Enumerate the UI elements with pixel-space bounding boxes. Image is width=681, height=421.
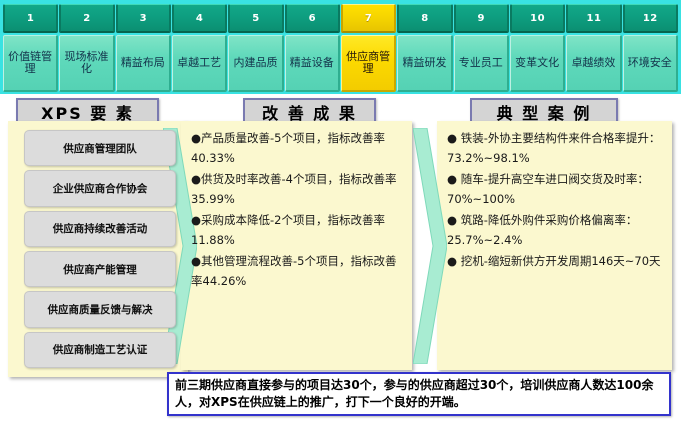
nav-item-9[interactable]: 9专业员工 (454, 4, 509, 92)
nav-item-6[interactable]: 6精益设备 (285, 4, 340, 92)
nav-item-label: 卓越工艺 (172, 35, 227, 92)
xps-element-item[interactable]: 供应商管理团队 (24, 130, 176, 166)
typical-case-bullet: ● 铁装-外协主要结构件来件合格率提升：73.2%~98.1% (447, 128, 669, 169)
nav-item-label: 卓越绩效 (566, 35, 621, 92)
nav-item-label: 专业员工 (454, 35, 509, 92)
nav-item-list: 1价值链管理2现场标准化3精益布局4卓越工艺5内建品质6精益设备7供应商管理8精… (3, 4, 678, 92)
nav-item-8[interactable]: 8精益研发 (397, 4, 452, 92)
nav-item-number: 8 (397, 4, 452, 33)
typical-cases-bullets: ● 铁装-外协主要结构件来件合格率提升：73.2%~98.1%● 随车-提升高空… (447, 128, 669, 271)
nav-item-number: 1 (3, 4, 58, 33)
improvement-result-bullet: ●供货及时率改善-4个项目，指标改善率35.99% (191, 169, 407, 210)
nav-item-number: 11 (566, 4, 621, 33)
nav-item-number: 3 (116, 4, 171, 33)
nav-item-label: 精益设备 (285, 35, 340, 92)
summary-footer-text: 前三期供应商直接参与的项目达30个，参与的供应商超过30个，培训供应商人数达10… (167, 372, 671, 416)
xps-element-item[interactable]: 供应商质量反馈与解决 (24, 291, 176, 327)
typical-case-bullet: ● 随车-提升高空车进口阀交货及时率：70%~100% (447, 169, 669, 210)
nav-item-3[interactable]: 3精益布局 (116, 4, 171, 92)
improvement-result-bullet: ●采购成本降低-2个项目，指标改善率11.88% (191, 210, 407, 251)
xps-element-item[interactable]: 供应商持续改善活动 (24, 211, 176, 247)
nav-item-number: 2 (59, 4, 114, 33)
nav-item-12[interactable]: 12环境安全 (623, 4, 678, 92)
nav-item-label: 变革文化 (510, 35, 565, 92)
nav-item-label: 环境安全 (623, 35, 678, 92)
nav-item-number: 10 (510, 4, 565, 33)
nav-item-5[interactable]: 5内建品质 (228, 4, 283, 92)
xps-element-item[interactable]: 供应商产能管理 (24, 251, 176, 287)
nav-item-label: 供应商管理 (341, 35, 396, 92)
nav-item-label: 价值链管理 (3, 35, 58, 92)
nav-item-7[interactable]: 7供应商管理 (341, 4, 396, 92)
nav-item-label: 精益研发 (397, 35, 452, 92)
typical-case-bullet: ● 挖机-缩短新供方开发周期146天~70天 (447, 251, 669, 271)
nav-item-number: 9 (454, 4, 509, 33)
improvement-result-bullet: ●其他管理流程改善-5个项目，指标改善率44.26% (191, 251, 407, 292)
nav-item-1[interactable]: 1价值链管理 (3, 4, 58, 92)
nav-item-number: 4 (172, 4, 227, 33)
top-navigation-bar: 1价值链管理2现场标准化3精益布局4卓越工艺5内建品质6精益设备7供应商管理8精… (0, 0, 681, 94)
nav-item-number: 6 (285, 4, 340, 33)
xps-element-item[interactable]: 企业供应商合作协会 (24, 170, 176, 206)
nav-item-number: 5 (228, 4, 283, 33)
xps-element-list: 供应商管理团队企业供应商合作协会供应商持续改善活动供应商产能管理供应商质量反馈与… (8, 121, 188, 377)
nav-item-number: 7 (341, 4, 396, 33)
slide-root: 1价值链管理2现场标准化3精益布局4卓越工艺5内建品质6精益设备7供应商管理8精… (0, 0, 681, 421)
improvement-result-bullet: ●产品质量改善-5个项目，指标改善率40.33% (191, 128, 407, 169)
nav-item-label: 精益布局 (116, 35, 171, 92)
nav-item-10[interactable]: 10变革文化 (510, 4, 565, 92)
nav-item-4[interactable]: 4卓越工艺 (172, 4, 227, 92)
improvement-results-bullets: ●产品质量改善-5个项目，指标改善率40.33%●供货及时率改善-4个项目，指标… (191, 128, 407, 292)
nav-item-number: 12 (623, 4, 678, 33)
nav-item-label: 内建品质 (228, 35, 283, 92)
nav-item-2[interactable]: 2现场标准化 (59, 4, 114, 92)
nav-item-11[interactable]: 11卓越绩效 (566, 4, 621, 92)
nav-item-label: 现场标准化 (59, 35, 114, 92)
xps-element-item[interactable]: 供应商制造工艺认证 (24, 332, 176, 368)
typical-case-bullet: ● 筑路-降低外购件采购价格偏离率：25.7%~2.4% (447, 210, 669, 251)
